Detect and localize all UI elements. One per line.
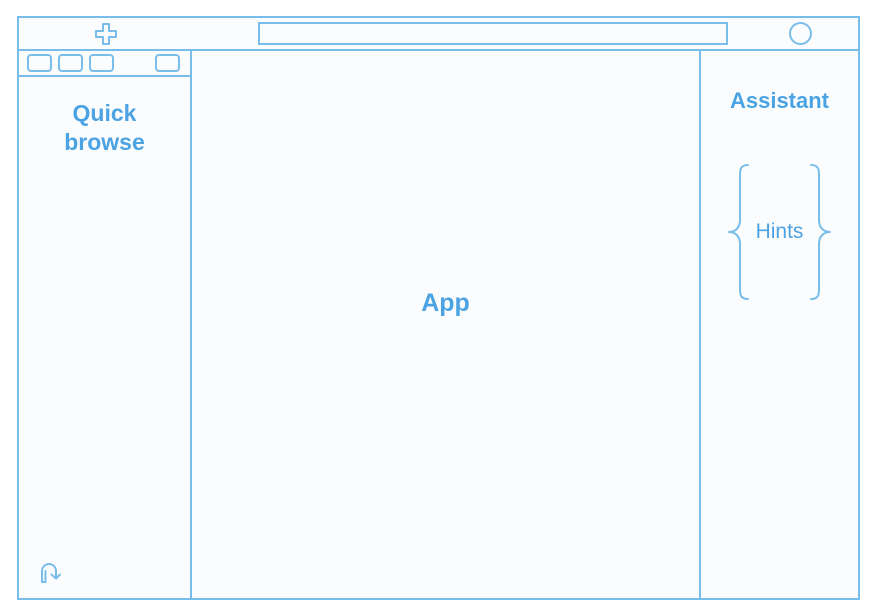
search-input[interactable] xyxy=(258,22,728,45)
top-bar-search-section xyxy=(192,18,742,49)
hints-block: Hints xyxy=(726,162,834,302)
assistant-panel: Assistant Hints xyxy=(701,51,858,598)
circle-avatar-icon[interactable] xyxy=(789,22,812,45)
top-bar-left-section xyxy=(19,18,192,49)
sidebar-title: Quick browse xyxy=(19,99,190,158)
plus-icon xyxy=(94,22,118,46)
app-content-area: App xyxy=(192,51,701,598)
main-body: Quick browse App Assistant xyxy=(19,51,858,598)
wireframe-window: Quick browse App Assistant xyxy=(17,16,860,600)
app-label: App xyxy=(421,289,470,318)
sidebar-toolbar-button-1[interactable] xyxy=(27,54,52,72)
right-curly-brace-icon xyxy=(807,162,833,302)
sidebar-content-area xyxy=(19,158,190,546)
sidebar-footer xyxy=(19,546,190,598)
add-button[interactable] xyxy=(94,22,118,46)
u-turn-arrow-button[interactable] xyxy=(37,559,63,585)
left-curly-brace-icon xyxy=(726,162,752,302)
top-bar-right-section xyxy=(742,18,858,49)
quick-browse-sidebar: Quick browse xyxy=(19,51,192,598)
top-bar xyxy=(19,18,858,51)
hints-label: Hints xyxy=(752,220,808,244)
sidebar-toolbar xyxy=(19,51,190,77)
u-turn-arrow-icon xyxy=(37,559,63,585)
assistant-title: Assistant xyxy=(730,88,829,114)
sidebar-toolbar-button-4[interactable] xyxy=(155,54,180,72)
sidebar-toolbar-button-2[interactable] xyxy=(58,54,83,72)
sidebar-toolbar-button-3[interactable] xyxy=(89,54,114,72)
